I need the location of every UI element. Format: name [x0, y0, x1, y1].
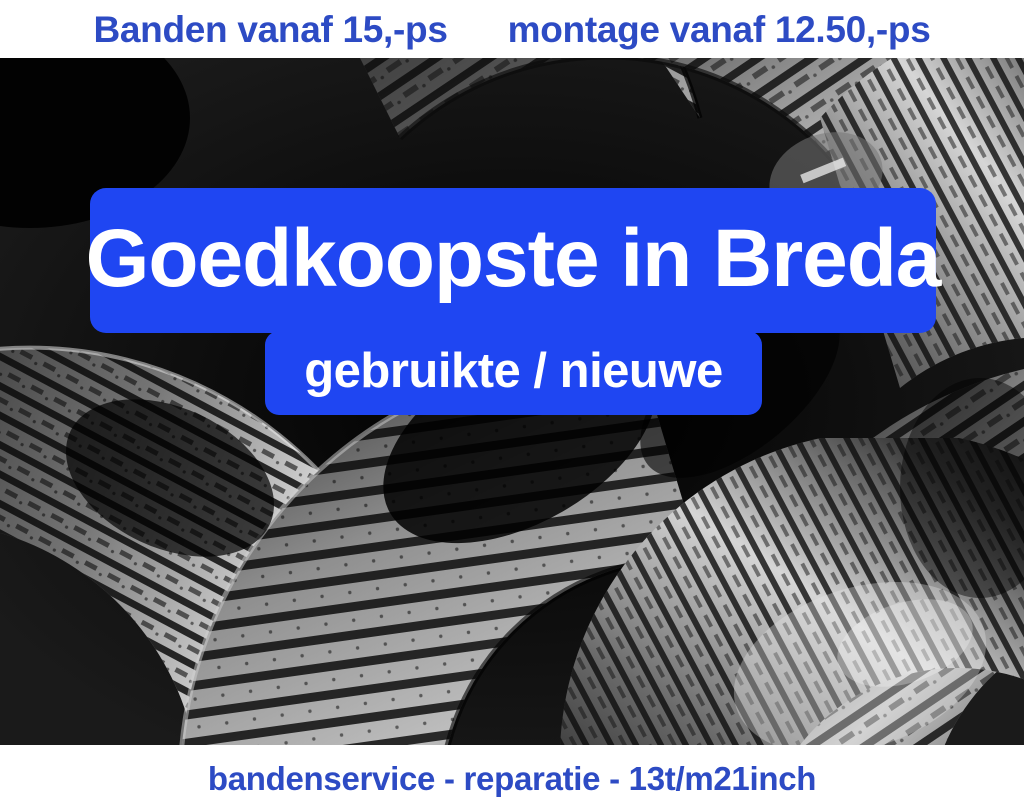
headline-text: Goedkoopste in Breda	[86, 218, 941, 300]
headline-banner: Goedkoopste in Breda	[90, 188, 936, 333]
subheadline-banner: gebruikte / nieuwe	[265, 331, 762, 415]
top-strip-left-text: Banden vanaf 15,-ps	[93, 11, 447, 48]
top-price-strip: Banden vanaf 15,-ps montage vanaf 12.50,…	[0, 0, 1024, 58]
subheadline-text: gebruikte / nieuwe	[304, 347, 722, 396]
bottom-strip-text: bandenservice - reparatie - 13t/m21inch	[208, 762, 816, 795]
top-strip-right-text: montage vanaf 12.50,-ps	[508, 11, 931, 48]
bottom-services-strip: bandenservice - reparatie - 13t/m21inch	[0, 745, 1024, 811]
tire-shop-advertisement: Banden vanaf 15,-ps montage vanaf 12.50,…	[0, 0, 1024, 811]
